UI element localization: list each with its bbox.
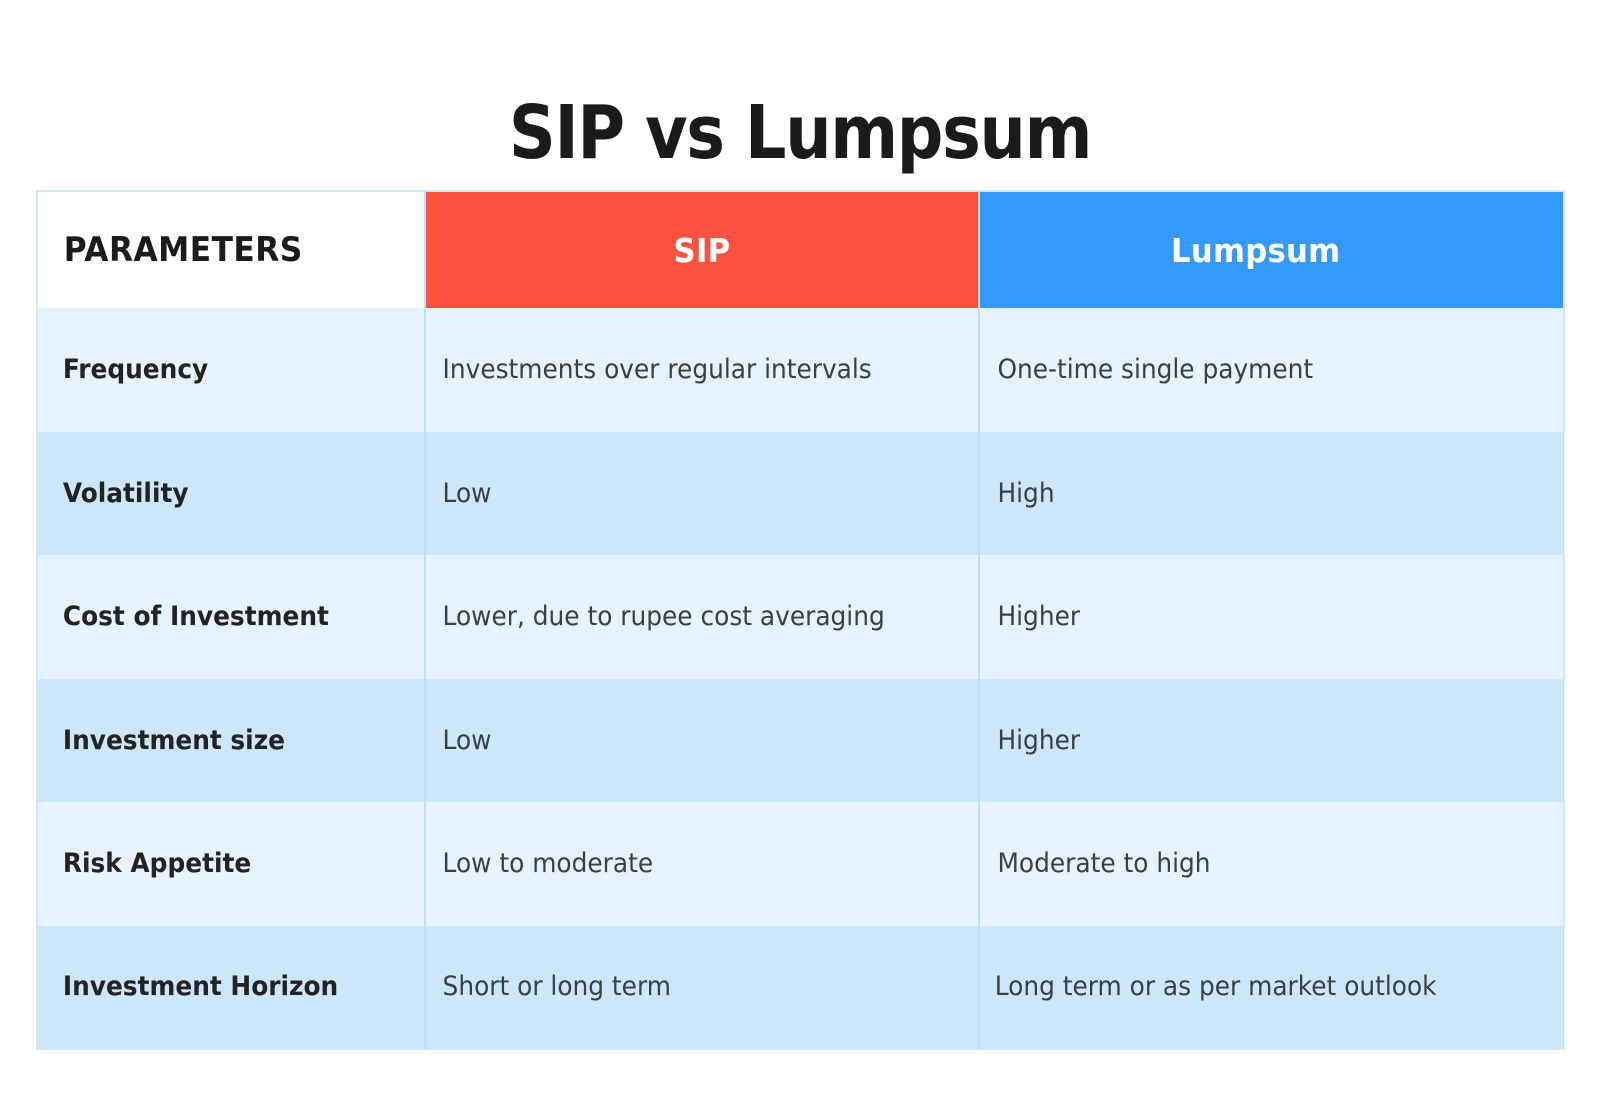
table-header: PARAMETERS SIP Lumpsum: [37, 191, 1564, 308]
table-row: Cost of Investment Lower, due to rupee c…: [37, 555, 1564, 679]
table-row: Volatility Low High: [37, 432, 1564, 556]
row-parameter-frequency: Frequency: [37, 308, 425, 432]
row-sip-cost-of-investment: Lower, due to rupee cost averaging: [425, 555, 979, 679]
row-lumpsum-cost-of-investment: Higher: [979, 555, 1564, 679]
row-parameter-cost-of-investment: Cost of Investment: [37, 555, 425, 679]
comparison-table: PARAMETERS SIP Lumpsum Frequency Investm…: [36, 190, 1565, 1050]
page-title: SIP vs Lumpsum: [96, 96, 1504, 170]
table-row: Investment size Low Higher: [37, 679, 1564, 803]
row-parameter-investment-size: Investment size: [37, 679, 425, 803]
column-header-parameters: PARAMETERS: [37, 191, 425, 308]
column-header-lumpsum-label: Lumpsum: [1000, 231, 1542, 270]
row-parameter-volatility: Volatility: [37, 432, 425, 556]
row-parameter-investment-horizon: Investment Horizon: [37, 926, 425, 1050]
table-row: Frequency Investments over regular inter…: [37, 308, 1564, 432]
table-body: Frequency Investments over regular inter…: [37, 308, 1564, 1049]
column-header-sip: SIP: [425, 191, 979, 308]
row-lumpsum-investment-horizon: Long term or as per market outlook: [979, 926, 1564, 1050]
row-parameter-risk-appetite: Risk Appetite: [37, 802, 425, 926]
row-sip-investment-horizon: Short or long term: [425, 926, 979, 1050]
row-sip-investment-size: Low: [425, 679, 979, 803]
column-header-lumpsum: Lumpsum: [979, 191, 1564, 308]
column-header-sip-label: SIP: [445, 231, 958, 270]
header-row: PARAMETERS SIP Lumpsum: [37, 191, 1564, 308]
row-sip-risk-appetite: Low to moderate: [425, 802, 979, 926]
row-lumpsum-frequency: One-time single payment: [979, 308, 1564, 432]
row-sip-frequency: Investments over regular intervals: [425, 308, 979, 432]
row-lumpsum-volatility: High: [979, 432, 1564, 556]
table-row: Risk Appetite Low to moderate Moderate t…: [37, 802, 1564, 926]
row-lumpsum-risk-appetite: Moderate to high: [979, 802, 1564, 926]
column-header-parameters-label: PARAMETERS: [38, 230, 393, 270]
table-row: Investment Horizon Short or long term Lo…: [37, 926, 1564, 1050]
row-sip-volatility: Low: [425, 432, 979, 556]
row-lumpsum-investment-size: Higher: [979, 679, 1564, 803]
